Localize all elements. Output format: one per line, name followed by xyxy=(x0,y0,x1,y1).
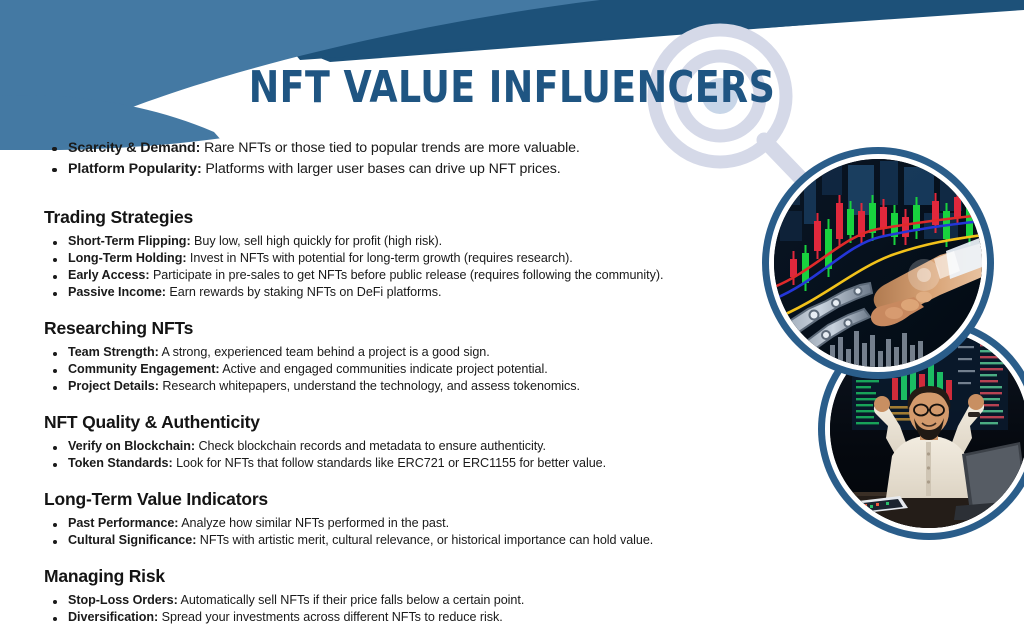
section-researching-nfts: Researching NFTs Team Strength: A strong… xyxy=(44,318,724,395)
bullet-text: Active and engaged communities indicate … xyxy=(219,362,547,376)
intro-bullet-list: Scarcity & Demand: Rare NFTs or those ti… xyxy=(44,138,724,180)
list-item: Community Engagement: Active and engaged… xyxy=(44,361,724,378)
section-bullet-list: Stop-Loss Orders: Automatically sell NFT… xyxy=(44,592,724,626)
section-heading: Managing Risk xyxy=(44,566,724,587)
bullet-text: Earn rewards by staking NFTs on DeFi pla… xyxy=(166,285,441,299)
section-nft-quality-authenticity: NFT Quality & Authenticity Verify on Blo… xyxy=(44,412,724,472)
bullet-text: Rare NFTs or those tied to popular trend… xyxy=(200,140,580,156)
list-item: Diversification: Spread your investments… xyxy=(44,609,724,626)
bullet-text: Automatically sell NFTs if their price f… xyxy=(178,593,525,607)
bullet-term: Short-Term Flipping: xyxy=(68,234,191,248)
bullet-text: NFTs with artistic merit, cultural relev… xyxy=(196,533,653,547)
bullet-term: Token Standards: xyxy=(68,456,173,470)
bullet-text: Spread your investments across different… xyxy=(158,610,503,624)
bullet-term: Cultural Significance: xyxy=(68,533,196,547)
list-item: Scarcity & Demand: Rare NFTs or those ti… xyxy=(44,138,724,159)
section-bullet-list: Team Strength: A strong, experienced tea… xyxy=(44,344,724,395)
list-item: Passive Income: Earn rewards by staking … xyxy=(44,284,724,301)
list-item: Token Standards: Look for NFTs that foll… xyxy=(44,455,724,472)
photo-content xyxy=(774,159,982,367)
bullet-term: Long-Term Holding: xyxy=(68,251,186,265)
content-column: Scarcity & Demand: Rare NFTs or those ti… xyxy=(44,138,724,626)
bullet-term: Passive Income: xyxy=(68,285,166,299)
section-long-term-value-indicators: Long-Term Value Indicators Past Performa… xyxy=(44,489,724,549)
bullet-text: Look for NFTs that follow standards like… xyxy=(173,456,606,470)
list-item: Verify on Blockchain: Check blockchain r… xyxy=(44,438,724,455)
bullet-term: Community Engagement: xyxy=(68,362,219,376)
bullet-text: Invest in NFTs with potential for long-t… xyxy=(186,251,572,265)
bullet-term: Platform Popularity: xyxy=(68,161,202,177)
bullet-text: A strong, experienced team behind a proj… xyxy=(159,345,490,359)
section-heading: Trading Strategies xyxy=(44,207,724,228)
bullet-text: Participate in pre-sales to get NFTs bef… xyxy=(150,268,664,282)
section-heading: NFT Quality & Authenticity xyxy=(44,412,724,433)
bullet-text: Platforms with larger user bases can dri… xyxy=(202,161,561,177)
bullet-term: Team Strength: xyxy=(68,345,159,359)
bullet-term: Diversification: xyxy=(68,610,158,624)
photo-ring-gap xyxy=(769,154,987,372)
bullet-term: Scarcity & Demand: xyxy=(68,140,200,156)
bullet-term: Past Performance: xyxy=(68,516,178,530)
bullet-text: Analyze how similar NFTs performed in th… xyxy=(178,516,449,530)
list-item: Team Strength: A strong, experienced tea… xyxy=(44,344,724,361)
list-item: Platform Popularity: Platforms with larg… xyxy=(44,159,724,180)
section-trading-strategies: Trading Strategies Short-Term Flipping: … xyxy=(44,207,724,301)
section-heading: Long-Term Value Indicators xyxy=(44,489,724,510)
list-item: Early Access: Participate in pre-sales t… xyxy=(44,267,724,284)
page-title: NFT VALUE INFLUENCERS xyxy=(41,62,983,113)
section-heading: Researching NFTs xyxy=(44,318,724,339)
bullet-term: Project Details: xyxy=(68,379,159,393)
bullet-term: Verify on Blockchain: xyxy=(68,439,195,453)
header-band-dark-2 xyxy=(250,0,1024,60)
bullet-term: Stop-Loss Orders: xyxy=(68,593,178,607)
bullet-text: Research whitepapers, understand the tec… xyxy=(159,379,580,393)
list-item: Past Performance: Analyze how similar NF… xyxy=(44,515,724,532)
section-bullet-list: Verify on Blockchain: Check blockchain r… xyxy=(44,438,724,472)
infographic-page: NFT VALUE INFLUENCERS Scarcity & Demand:… xyxy=(0,0,1024,643)
section-managing-risk: Managing Risk Stop-Loss Orders: Automati… xyxy=(44,566,724,626)
list-item: Long-Term Holding: Invest in NFTs with p… xyxy=(44,250,724,267)
bullet-term: Early Access: xyxy=(68,268,150,282)
header-band-dark xyxy=(0,0,1024,62)
trading-handshake-photo xyxy=(762,147,994,379)
list-item: Cultural Significance: NFTs with artisti… xyxy=(44,532,724,549)
list-item: Stop-Loss Orders: Automatically sell NFT… xyxy=(44,592,724,609)
list-item: Project Details: Research whitepapers, u… xyxy=(44,378,724,395)
list-item: Short-Term Flipping: Buy low, sell high … xyxy=(44,233,724,250)
bullet-text: Check blockchain records and metadata to… xyxy=(195,439,546,453)
section-bullet-list: Past Performance: Analyze how similar NF… xyxy=(44,515,724,549)
intro-bullets: Scarcity & Demand: Rare NFTs or those ti… xyxy=(44,138,724,180)
bullet-text: Buy low, sell high quickly for profit (h… xyxy=(191,234,443,248)
section-bullet-list: Short-Term Flipping: Buy low, sell high … xyxy=(44,233,724,301)
